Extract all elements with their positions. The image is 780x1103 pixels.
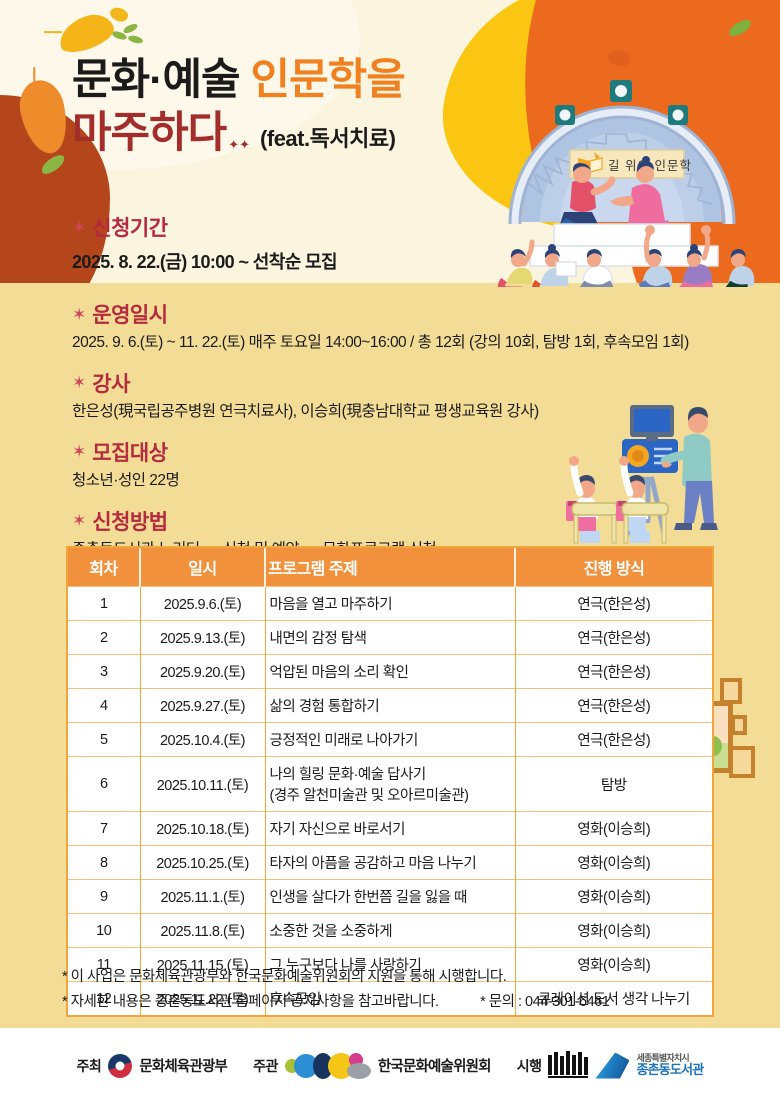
sparkle-icon: ✦✦ <box>228 137 250 153</box>
poster-title: 문화·예술 인문학을 마주하다 ✦✦ (feat.독서치료) <box>72 58 405 156</box>
cell-topic: 긍정적인 미래로 나아가기 <box>265 723 515 757</box>
sejong-wing-icon <box>595 1053 629 1079</box>
th-mode: 진행 방식 <box>515 548 712 587</box>
cell-session-no: 2 <box>68 621 140 655</box>
title-line-2: 마주하다 ✦✦ (feat.독서치료) <box>72 111 405 156</box>
host-logo-group: 주최 문화체육관광부 <box>77 1054 228 1078</box>
cell-mode: 영화(이승희) <box>515 846 712 880</box>
info-list: ✶ 운영일시 2025. 9. 6.(토) ~ 11. 22.(토) 매주 토요… <box>72 299 712 575</box>
cell-mode: 영화(이승희) <box>515 880 712 914</box>
title-face-it: 마주하다 <box>72 111 226 156</box>
cell-topic: 자기 자신으로 바로서기 <box>265 812 515 846</box>
cell-topic: 소중한 것을 소중하게 <box>265 914 515 948</box>
stage-illustration: 길 위의 인문학 <box>482 62 762 287</box>
program-schedule-table: 회차 일시 프로그램 주제 진행 방식 12025.9.6.(토)마음을 열고 … <box>68 548 712 1015</box>
how-to-apply-heading: ✶ 신청방법 <box>72 506 712 536</box>
title-line-1: 문화·예술 인문학을 <box>72 58 405 103</box>
organizer-name: 한국문화예술위원회 <box>378 1055 491 1076</box>
audience-body: 청소년·성인 22명 <box>72 471 712 492</box>
cell-date: 2025.10.25.(토) <box>140 846 265 880</box>
note-line-2-wrap: * 자세한 내용은 종촌동도서관 홈페이지 공지사항을 참고바랍니다. * 문의… <box>62 990 609 1015</box>
how-to-apply-title: 신청방법 <box>92 506 167 536</box>
th-session-no: 회차 <box>68 548 140 587</box>
green-sprig-icon <box>112 22 146 48</box>
arko-logo-icon <box>285 1053 371 1079</box>
cell-date: 2025.11.1.(토) <box>140 880 265 914</box>
operator-label: 시행 <box>517 1056 542 1076</box>
cell-session-no: 3 <box>68 655 140 689</box>
cell-mode: 연극(한은성) <box>515 587 712 621</box>
operator-name: 종촌동도서관 <box>636 1062 703 1077</box>
cell-topic: 타자의 아픔을 공감하고 마음 나누기 <box>265 846 515 880</box>
cell-session-no: 8 <box>68 846 140 880</box>
cell-date: 2025.10.4.(토) <box>140 723 265 757</box>
instructor-block: ✶ 강사 한은성(現국립공주병원 연극치료사), 이승희(現충남대학교 평생교육… <box>72 368 712 423</box>
taegeuk-icon <box>108 1054 132 1078</box>
cell-date: 2025.9.20.(토) <box>140 655 265 689</box>
table-row: 62025.10.11.(토)나의 힐링 문화·예술 답사기(경주 알천미술관 … <box>68 757 712 812</box>
instructor-body: 한은성(現국립공주병원 연극치료사), 이승희(現충남대학교 평생교육원 강사) <box>72 402 712 423</box>
schedule-period-title: 운영일시 <box>92 299 167 329</box>
cell-mode: 영화(이승희) <box>515 812 712 846</box>
schedule-period-body: 2025. 9. 6.(토) ~ 11. 22.(토) 매주 토요일 14:00… <box>72 333 712 354</box>
apply-period-title: 신청기간 <box>92 212 167 242</box>
footnotes: * 이 사업은 문화체육관광부와 한국문화예술위원회의 지원을 통해 시행합니다… <box>62 965 609 1014</box>
table-row: 12025.9.6.(토)마음을 열고 마주하기연극(한은성) <box>68 587 712 621</box>
star-icon: ✶ <box>72 219 86 236</box>
table-body: 12025.9.6.(토)마음을 열고 마주하기연극(한은성)22025.9.1… <box>68 587 712 1016</box>
cell-session-no: 1 <box>68 587 140 621</box>
cell-topic: 억압된 마음의 소리 확인 <box>265 655 515 689</box>
cell-date: 2025.10.11.(토) <box>140 757 265 812</box>
poster-root: 문화·예술 인문학을 마주하다 ✦✦ (feat.독서치료) <box>0 0 780 1103</box>
operator-name-group: 세종특별자치시 종촌동도서관 <box>636 1053 703 1078</box>
table-row: 102025.11.8.(토)소중한 것을 소중하게영화(이승희) <box>68 914 712 948</box>
th-date: 일시 <box>140 548 265 587</box>
star-icon: ✶ <box>72 443 86 460</box>
title-feat: (feat.독서치료) <box>260 121 395 153</box>
table-row: 72025.10.18.(토)자기 자신으로 바로서기영화(이승희) <box>68 812 712 846</box>
cell-topic: 내면의 감정 탐색 <box>265 621 515 655</box>
table-header-row: 회차 일시 프로그램 주제 진행 방식 <box>68 548 712 587</box>
cell-topic: 나의 힐링 문화·예술 답사기(경주 알천미술관 및 오아르미술관) <box>265 757 515 812</box>
apply-period-body: 2025. 8. 22.(금) 10:00 ~ 선착순 모집 <box>72 248 337 274</box>
table-row: 92025.11.1.(토)인생을 살다가 한번쯤 길을 잃을 때영화(이승희) <box>68 880 712 914</box>
star-icon: ✶ <box>72 512 86 529</box>
cell-topic: 삶의 경험 통합하기 <box>265 689 515 723</box>
instructor-heading: ✶ 강사 <box>72 368 712 398</box>
decor-frame-c <box>729 746 755 778</box>
table-row: 32025.9.20.(토)억압된 마음의 소리 확인연극(한은성) <box>68 655 712 689</box>
organizer-label: 주관 <box>253 1056 278 1076</box>
cell-session-no: 4 <box>68 689 140 723</box>
host-name: 문화체육관광부 <box>139 1055 227 1076</box>
stage-svg: 길 위의 인문학 <box>482 62 762 287</box>
star-icon: ✶ <box>72 374 86 391</box>
cell-mode: 연극(한은성) <box>515 689 712 723</box>
audience-block: ✶ 모집대상 청소년·성인 22명 <box>72 437 712 492</box>
title-culture-art: 문화·예술 <box>72 56 240 104</box>
cell-date: 2025.9.13.(토) <box>140 621 265 655</box>
cell-mode: 영화(이승희) <box>515 914 712 948</box>
footer-logos: 주최 문화체육관광부 주관 한국문화예술위원회 시행 <box>0 1028 780 1103</box>
cell-topic-sub: (경주 알천미술관 및 오아르미술관) <box>270 784 511 805</box>
apply-period-block: ✶ 신청기간 2025. 8. 22.(금) 10:00 ~ 선착순 모집 <box>72 212 337 274</box>
cell-session-no: 6 <box>68 757 140 812</box>
operator-logo-group: 시행 세종특별자치시 종촌동도서관 <box>517 1053 704 1079</box>
audience-heading: ✶ 모집대상 <box>72 437 712 467</box>
table-row: 52025.10.4.(토)긍정적인 미래로 나아가기연극(한은성) <box>68 723 712 757</box>
cell-mode: 탐방 <box>515 757 712 812</box>
host-label: 주최 <box>77 1056 102 1076</box>
cell-session-no: 7 <box>68 812 140 846</box>
table-row: 82025.10.25.(토)타자의 아픔을 공감하고 마음 나누기영화(이승희… <box>68 846 712 880</box>
contact-phone: * 문의 : 044-301-6461 <box>480 994 609 1010</box>
cell-session-no: 5 <box>68 723 140 757</box>
cell-mode: 연극(한은성) <box>515 655 712 689</box>
cell-topic: 인생을 살다가 한번쯤 길을 잃을 때 <box>265 880 515 914</box>
cell-session-no: 9 <box>68 880 140 914</box>
cell-date: 2025.11.8.(토) <box>140 914 265 948</box>
cell-session-no: 10 <box>68 914 140 948</box>
organizer-logo-group: 주관 한국문화예술위원회 <box>253 1053 491 1079</box>
audience-title: 모집대상 <box>92 437 167 467</box>
table-row: 22025.9.13.(토)내면의 감정 탐색연극(한은성) <box>68 621 712 655</box>
note-line-2: * 자세한 내용은 종촌동도서관 홈페이지 공지사항을 참고바랍니다. <box>62 994 439 1010</box>
cell-date: 2025.10.18.(토) <box>140 812 265 846</box>
cell-mode: 연극(한은성) <box>515 723 712 757</box>
sejong-library-mark-icon <box>548 1054 588 1078</box>
star-icon: ✶ <box>72 306 86 323</box>
cell-mode: 연극(한은성) <box>515 621 712 655</box>
table-row: 42025.9.27.(토)삶의 경험 통합하기연극(한은성) <box>68 689 712 723</box>
apply-period-heading: ✶ 신청기간 <box>72 212 337 242</box>
title-humanities: 인문학을 <box>251 56 405 104</box>
hero-section: 문화·예술 인문학을 마주하다 ✦✦ (feat.독서치료) <box>0 0 780 290</box>
instructor-title: 강사 <box>92 368 130 398</box>
decor-frame-b <box>731 715 747 735</box>
schedule-period-block: ✶ 운영일시 2025. 9. 6.(토) ~ 11. 22.(토) 매주 토요… <box>72 299 712 354</box>
cell-date: 2025.9.6.(토) <box>140 587 265 621</box>
note-line-1: * 이 사업은 문화체육관광부와 한국문화예술위원회의 지원을 통해 시행합니다… <box>62 965 609 990</box>
th-topic: 프로그램 주제 <box>265 548 515 587</box>
cell-date: 2025.9.27.(토) <box>140 689 265 723</box>
schedule-period-heading: ✶ 운영일시 <box>72 299 712 329</box>
cell-topic: 마음을 열고 마주하기 <box>265 587 515 621</box>
